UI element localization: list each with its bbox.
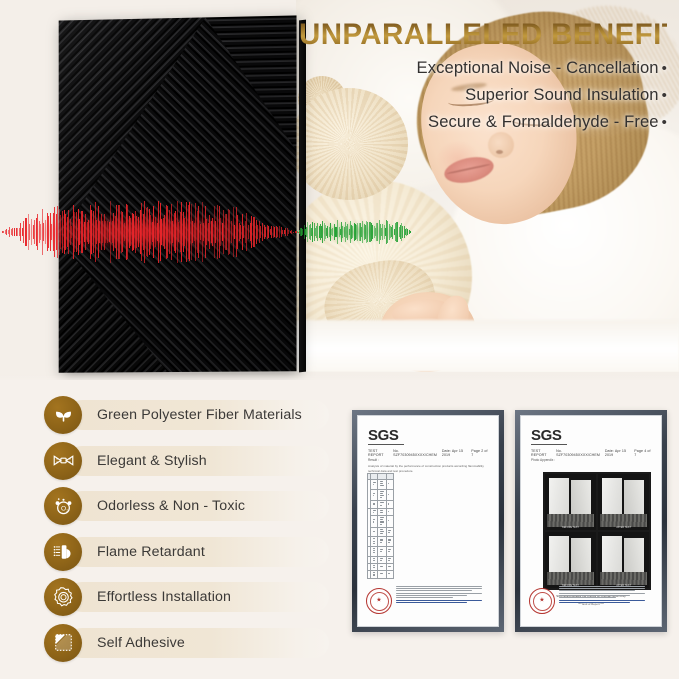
green-soundwave (296, 213, 411, 251)
sgs-logo: SGS (368, 427, 398, 444)
page-number: Page 4 of 7 (634, 449, 653, 457)
leaf-icon (44, 396, 82, 434)
sgs-logo-underline (531, 444, 567, 445)
doc-type-label: TEST REPORT (531, 449, 556, 457)
report-number: No. SZF7030945XXXX/CHEM (556, 449, 605, 457)
panel-groove-pattern (59, 15, 297, 372)
photo-appendix-grid: BEFORE TEST AFTER TEST BEFORE TEST AFTER… (543, 472, 651, 590)
feature-item-odorless-nontoxic: O 2 Odorless & Non - Toxic (44, 487, 334, 525)
certificate-gallery: SGS TEST REPORT No. SZF7030945XXXX/CHEM … (352, 410, 670, 638)
peel-corner-icon (44, 624, 82, 662)
svg-text:O: O (60, 505, 65, 512)
o2-molecule-icon: O 2 (44, 487, 82, 525)
hero-section: UNPARALLELED BENEFITS Exceptional Noise … (0, 0, 679, 380)
page-title: UNPARALLELED BENEFITS (299, 20, 667, 51)
panel-face (59, 15, 297, 372)
certificate-intro: Analysis of material by the performance … (368, 464, 489, 473)
feature-item-elegant-stylish: Elegant & Stylish (44, 442, 334, 480)
certificate-test-report-table[interactable]: SGS TEST REPORT No. SZF7030945XXXX/CHEM … (352, 410, 504, 632)
table-row (368, 480, 394, 490)
sgs-logo-underline (368, 444, 404, 445)
certification-seal (529, 588, 555, 614)
benefit-line-1: Exceptional Noise - Cancellation• (299, 58, 667, 78)
benefit-line-3: Secure & Formaldehyde - Free• (299, 112, 667, 132)
benefit-text: Exceptional Noise - Cancellation (417, 58, 659, 77)
certificate-footer (529, 584, 654, 618)
bowtie-icon (44, 442, 82, 480)
certificate-header: TEST REPORT No. SZF7030945XXXX/CHEM Date… (368, 449, 490, 457)
certificate-header: TEST REPORT No. SZF7030945XXXX/CHEM Date… (531, 449, 653, 457)
certificate-footer (366, 584, 491, 618)
table-row (368, 508, 394, 515)
bullet-dot-icon: • (662, 114, 667, 131)
table-row (368, 527, 394, 537)
details-section: Green Polyester Fiber Materials Elegant … (0, 380, 679, 679)
headline-block: UNPARALLELED BENEFITS Exceptional Noise … (299, 20, 667, 132)
feature-list: Green Polyester Fiber Materials Elegant … (44, 396, 334, 670)
sgs-logo: SGS (531, 427, 561, 444)
page-number: Page 2 of 7 (471, 449, 490, 457)
certificate-photo-appendix[interactable]: SGS TEST REPORT No. SZF7030945XXXX/CHEM … (515, 410, 667, 632)
bullet-dot-icon: • (662, 60, 667, 77)
feature-item-flame-retardant: Flame Retardant (44, 533, 334, 571)
feature-label: Flame Retardant (97, 533, 205, 571)
benefit-text: Superior Sound Insulation (465, 85, 658, 104)
feature-label: Odorless & Non - Toxic (97, 487, 245, 525)
child-nose (488, 132, 514, 158)
flame-icon (44, 533, 82, 571)
certificate-fine-print (396, 584, 491, 618)
test-photo: AFTER TEST (598, 532, 649, 588)
soundwave-bar (410, 231, 411, 233)
table-row (368, 563, 394, 570)
doc-type-label: TEST REPORT (368, 449, 393, 457)
report-date: Date: Apr 15 2019 (442, 449, 471, 457)
certificate-page: SGS TEST REPORT No. SZF7030945XXXX/CHEM … (357, 415, 499, 627)
test-photo: BEFORE TEST (545, 532, 596, 588)
test-result-table (367, 473, 394, 579)
certificate-page: SGS TEST REPORT No. SZF7030945XXXX/CHEM … (520, 415, 662, 627)
table-row (368, 537, 394, 547)
feature-item-green-polyester: Green Polyester Fiber Materials (44, 396, 334, 434)
benefit-line-2: Superior Sound Insulation• (299, 85, 667, 105)
section-label: Result : (368, 458, 379, 462)
section-label: Photo Appendix : (531, 458, 555, 462)
acoustic-panel (50, 8, 300, 376)
feature-item-effortless-installation: Effortless Installation (44, 578, 334, 616)
photo-caption: AFTER TEST (616, 526, 631, 529)
bed-sheet (296, 320, 679, 372)
test-photo: AFTER TEST (598, 474, 649, 530)
photo-caption: BEFORE TEST (562, 526, 579, 529)
table-row (368, 501, 394, 508)
red-soundwave (0, 196, 300, 268)
report-number: No. SZF7030945XXXX/CHEM (393, 449, 442, 457)
bullet-dot-icon: • (662, 87, 667, 104)
certificate-fine-print (559, 584, 654, 618)
feature-label: Self Adhesive (97, 624, 185, 662)
feature-label: Green Polyester Fiber Materials (97, 396, 302, 434)
table-row (368, 556, 394, 563)
feature-item-self-adhesive: Self Adhesive (44, 624, 334, 662)
table-row (368, 489, 394, 501)
certification-seal (366, 588, 392, 614)
report-date: Date: Apr 15 2019 (605, 449, 634, 457)
table-row (368, 546, 394, 556)
table-row (368, 516, 394, 528)
test-photo: BEFORE TEST (545, 474, 596, 530)
feature-label: Effortless Installation (97, 578, 231, 616)
child-nostril (496, 150, 503, 154)
feature-label: Elegant & Stylish (97, 442, 207, 480)
benefit-text: Secure & Formaldehyde - Free (428, 112, 659, 131)
table-row (368, 571, 394, 578)
